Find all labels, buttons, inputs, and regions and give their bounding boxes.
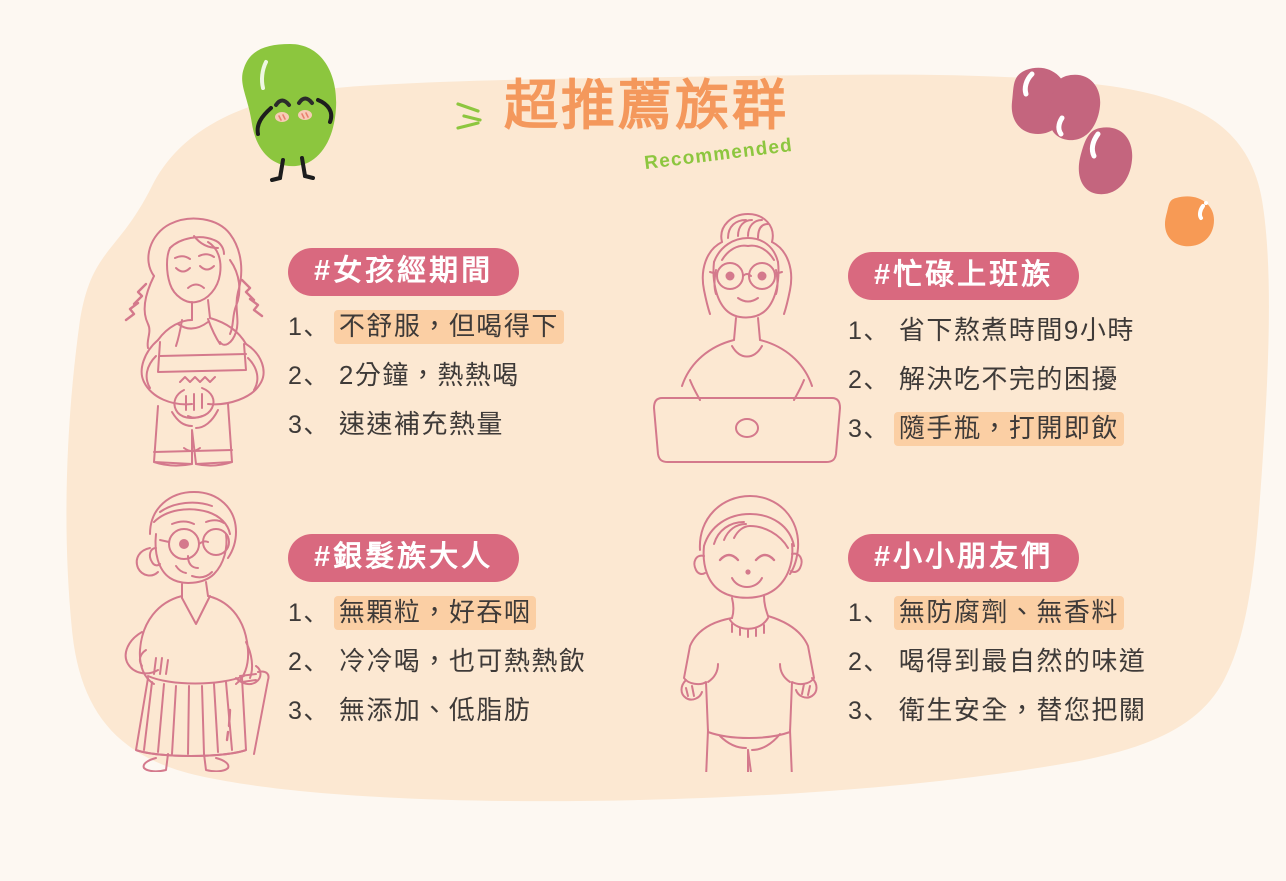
list-item: 1、 省下熬煮時間9小時	[848, 314, 1216, 348]
text-column-silver-hair-elders: #銀髮族大人 1、 無顆粒，好吞咽 2、 冷冷喝，也可熱熱飲 3、 無添加、低脂…	[288, 534, 656, 743]
text-column-little-kids: #小小朋友們 1、 無防腐劑、無香料 2、 喝得到最自然的味道 3、 衛生安全，…	[848, 534, 1216, 743]
list-item: 3、 衛生安全，替您把關	[848, 694, 1216, 728]
title-block: 超推薦族群 Recommended	[452, 78, 852, 188]
items-little-kids: 1、 無防腐劑、無香料 2、 喝得到最自然的味道 3、 衛生安全，替您把關	[848, 596, 1216, 728]
page-title: 超推薦族群	[504, 78, 789, 135]
poster-canvas: 超推薦族群 Recommended	[0, 0, 1286, 876]
page-subtitle: Recommended	[643, 135, 794, 175]
list-item-text: 無添加、低脂肪	[334, 694, 537, 728]
list-item-text: 解決吃不完的困擾	[894, 363, 1124, 397]
list-item-text: 不舒服，但喝得下	[334, 310, 564, 344]
list-item-text: 衛生安全，替您把關	[894, 694, 1152, 728]
list-item-text: 無顆粒，好吞咽	[334, 596, 537, 630]
list-item-text: 隨手瓶，打開即飲	[894, 412, 1124, 446]
text-column-girls-period: #女孩經期間 1、 不舒服，但喝得下 2、 2分鐘，熱熱喝 3、 速速補充熱量	[288, 248, 656, 457]
badge-girls-period: #女孩經期間	[288, 248, 519, 296]
elderly-woman-with-cane-illustration	[96, 482, 286, 772]
badge-little-kids: #小小朋友們	[848, 534, 1079, 582]
list-item: 3、 隨手瓶，打開即飲	[848, 412, 1216, 446]
list-item-number: 2、	[848, 650, 890, 675]
smiling-child-illustration	[652, 482, 842, 772]
badge-silver-hair-elders: #銀髮族大人	[288, 534, 519, 582]
list-item-text: 無防腐劑、無香料	[894, 596, 1124, 630]
items-silver-hair-elders: 1、 無顆粒，好吞咽 2、 冷冷喝，也可熱熱飲 3、 無添加、低脂肪	[288, 596, 656, 728]
text-column-busy-office-workers: #忙碌上班族 1、 省下熬煮時間9小時 2、 解決吃不完的困擾 3、 隨手瓶，打…	[848, 252, 1216, 461]
list-item-text: 2分鐘，熱熱喝	[334, 359, 525, 393]
list-item: 1、 無顆粒，好吞咽	[288, 596, 656, 630]
list-item-number: 3、	[848, 417, 890, 442]
group-silver-hair-elders: #銀髮族大人 1、 無顆粒，好吞咽 2、 冷冷喝，也可熱熱飲 3、 無添加、低脂…	[96, 482, 656, 772]
list-item-number: 1、	[848, 601, 890, 626]
list-item-text: 速速補充熱量	[334, 408, 509, 442]
list-item: 2、 解決吃不完的困擾	[848, 363, 1216, 397]
list-item-number: 2、	[288, 364, 330, 389]
list-item: 2、 冷冷喝，也可熱熱飲	[288, 645, 656, 679]
group-little-kids: #小小朋友們 1、 無防腐劑、無香料 2、 喝得到最自然的味道 3、 衛生安全，…	[652, 482, 1212, 772]
list-item-number: 1、	[288, 315, 330, 340]
list-item: 3、 速速補充熱量	[288, 408, 656, 442]
group-busy-office-workers: #忙碌上班族 1、 省下熬煮時間9小時 2、 解決吃不完的困擾 3、 隨手瓶，打…	[652, 200, 1212, 490]
list-item-text: 喝得到最自然的味道	[894, 645, 1152, 679]
list-item: 1、 無防腐劑、無香料	[848, 596, 1216, 630]
list-item-text: 冷冷喝，也可熱熱飲	[334, 645, 592, 679]
list-item: 2、 喝得到最自然的味道	[848, 645, 1216, 679]
list-item-number: 3、	[288, 413, 330, 438]
badge-busy-office-workers: #忙碌上班族	[848, 252, 1079, 300]
woman-with-cramps-illustration	[96, 200, 286, 490]
group-girls-period: #女孩經期間 1、 不舒服，但喝得下 2、 2分鐘，熱熱喝 3、 速速補充熱量	[96, 200, 656, 490]
list-item-text: 省下熬煮時間9小時	[894, 314, 1140, 348]
list-item-number: 1、	[848, 319, 890, 344]
list-item-number: 2、	[288, 650, 330, 675]
office-worker-with-laptop-illustration	[652, 200, 842, 490]
triple-dash-chevron-icon	[452, 94, 500, 142]
list-item: 1、 不舒服，但喝得下	[288, 310, 656, 344]
items-girls-period: 1、 不舒服，但喝得下 2、 2分鐘，熱熱喝 3、 速速補充熱量	[288, 310, 656, 442]
list-item-number: 1、	[288, 601, 330, 626]
list-item: 3、 無添加、低脂肪	[288, 694, 656, 728]
list-item: 2、 2分鐘，熱熱喝	[288, 359, 656, 393]
list-item-number: 3、	[848, 699, 890, 724]
list-item-number: 2、	[848, 368, 890, 393]
items-busy-office-workers: 1、 省下熬煮時間9小時 2、 解決吃不完的困擾 3、 隨手瓶，打開即飲	[848, 314, 1216, 446]
list-item-number: 3、	[288, 699, 330, 724]
